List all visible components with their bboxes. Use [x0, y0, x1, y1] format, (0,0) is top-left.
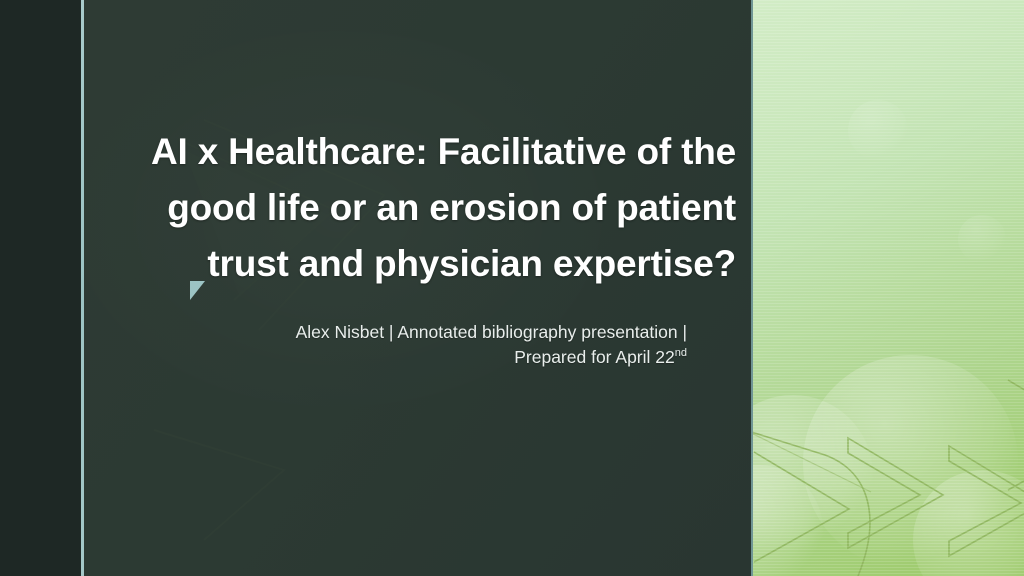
subtitle-line-2-text: Prepared for April 22 — [514, 347, 675, 367]
subtitle-line-1: Alex Nisbet | Annotated bibliography pre… — [150, 320, 687, 345]
title-slide: AI x Healthcare: Facilitative of the goo… — [0, 0, 1024, 576]
triangle-marker-icon — [190, 281, 208, 301]
ordinal-suffix: nd — [675, 347, 687, 359]
title-line-2: good life or an erosion of patient — [120, 180, 736, 236]
slide-subtitle: Alex Nisbet | Annotated bibliography pre… — [150, 320, 687, 370]
chevron-outline-graphics — [753, 0, 1024, 576]
triangle-shape — [190, 281, 205, 300]
green-decorative-panel — [753, 0, 1024, 576]
subtitle-line-2: Prepared for April 22nd — [150, 345, 687, 370]
title-line-1: AI x Healthcare: Facilitative of the — [120, 124, 736, 180]
page-title: AI x Healthcare: Facilitative of the goo… — [120, 124, 736, 292]
left-gutter-band — [0, 0, 81, 576]
title-line-3: trust and physician expertise? — [120, 236, 736, 292]
